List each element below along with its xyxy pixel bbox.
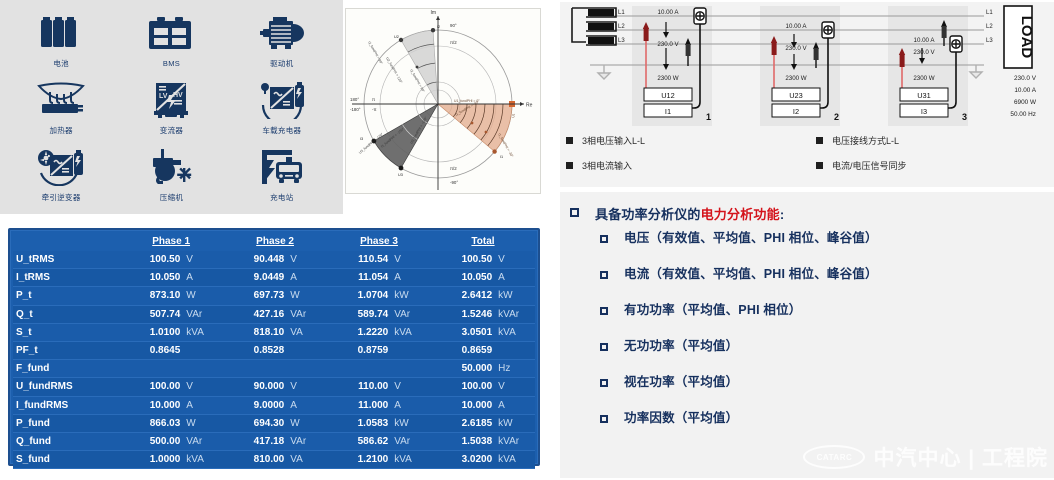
cell-phase1-unit <box>183 342 223 360</box>
cell-phase3-value: 589.74 <box>327 305 391 323</box>
cell-phase3-unit <box>391 360 431 378</box>
slide-canvas: 电池 <box>0 0 1054 480</box>
cell-phase1-value <box>119 360 183 378</box>
cell-phase3-value: 1.2100 <box>327 451 391 469</box>
cell-total-unit: kW <box>495 287 535 305</box>
svg-text:π/2: π/2 <box>450 40 457 45</box>
svg-text:90°: 90° <box>450 23 457 28</box>
right-column: L1 L2 L3 <box>548 0 1054 480</box>
cell-total-value: 10.050 <box>431 269 495 287</box>
cell-phase1-unit: W <box>183 287 223 305</box>
row-label: S_t <box>13 323 119 341</box>
hollow-square-bullet-icon <box>600 379 608 387</box>
cell-phase1-value: 866.03 <box>119 414 183 432</box>
square-bullet-icon <box>816 137 823 144</box>
cell-phase2-value: 818.10 <box>223 323 287 341</box>
cell-phase2-unit: VA <box>287 323 327 341</box>
icon-label: 变流器 <box>160 125 183 136</box>
cell-total-unit: A <box>495 269 535 287</box>
cell-phase2-value: 9.0000 <box>223 396 287 414</box>
table-row: I_tRMS10.050A9.0449A11.054A10.050A <box>13 269 535 287</box>
cell-phase2-unit: VA <box>287 451 327 469</box>
svg-text:π: π <box>372 97 375 102</box>
cell-phase1-value: 507.74 <box>119 305 183 323</box>
battery-cells-icon <box>39 11 83 55</box>
cell-phase3-value: 1.2220 <box>327 323 391 341</box>
svg-text:π/2: π/2 <box>450 166 457 171</box>
phasor-polar-chart: Im Re 90° π/2 π/2 -90° 180° -180° π -π U… <box>345 8 541 194</box>
cell-phase1-unit <box>183 360 223 378</box>
icon-cell-motor[interactable]: 驱动机 <box>227 6 337 73</box>
cell-phase3-value: 110.54 <box>327 251 391 269</box>
cell-phase2-value: 90.000 <box>223 378 287 396</box>
cell-phase1-value: 1.0100 <box>119 323 183 341</box>
load-value-power: 6900 W <box>1014 99 1037 106</box>
cell-phase3-unit <box>391 342 431 360</box>
icon-cell-compressor[interactable]: 压缩机 <box>116 141 226 208</box>
ch3-i-box: I3 <box>921 107 927 116</box>
cell-phase3-unit: VAr <box>391 433 431 451</box>
cell-phase3-unit: V <box>391 378 431 396</box>
left-column: 电池 <box>0 0 548 480</box>
cell-total-unit: V <box>495 251 535 269</box>
cell-phase1-unit: kVA <box>183 451 223 469</box>
cell-phase2-value: 810.00 <box>223 451 287 469</box>
cell-phase1-unit: A <box>183 269 223 287</box>
icon-label: BMS <box>163 59 180 68</box>
cell-phase2-unit: VAr <box>287 433 327 451</box>
svg-text:U3: U3 <box>398 173 403 177</box>
cell-phase1-value: 1.0000 <box>119 451 183 469</box>
svg-text:-180°: -180° <box>350 107 361 112</box>
cell-phase2-value: 697.73 <box>223 287 287 305</box>
ch1-voltage-label: 230.0 V <box>657 41 679 48</box>
ch2-u-box: U23 <box>789 91 803 100</box>
converter-lv-hv-icon: LV HV <box>150 78 192 122</box>
traction-inverter-icon <box>36 145 86 189</box>
ch2-power-label: 2300 W <box>785 75 806 82</box>
icon-label: 车载充电器 <box>262 125 301 136</box>
logo-text: CATARC <box>817 453 853 462</box>
cell-phase2-unit: V <box>287 251 327 269</box>
feature-item-label: 电压（有效值、平均值、PHI 相位、峰谷值） <box>624 231 878 246</box>
ch1-power-label: 2300 W <box>657 75 678 82</box>
cell-phase3-value: 1.0704 <box>327 287 391 305</box>
row-label: P_fund <box>13 414 119 432</box>
ch3-u-box: U31 <box>917 91 931 100</box>
cell-phase1-unit: V <box>183 251 223 269</box>
col-header-phase1: Phase 1 <box>119 233 223 251</box>
bullet-item: 3相电压输入L-L <box>566 128 816 153</box>
cell-phase3-value: 586.62 <box>327 433 391 451</box>
cell-phase2-value: 417.18 <box>223 433 287 451</box>
cell-phase3-unit: kW <box>391 414 431 432</box>
bullet-item: 电流/电压信号同步 <box>816 153 1054 178</box>
row-label: U_fundRMS <box>13 378 119 396</box>
row-label: PF_t <box>13 342 119 360</box>
cell-phase1-unit: VAr <box>183 433 223 451</box>
cell-phase2-value: 0.8528 <box>223 342 287 360</box>
cell-phase3-unit: kVA <box>391 323 431 341</box>
feature-item-label: 视在功率（平均值） <box>624 375 738 390</box>
cell-total-unit: A <box>495 396 535 414</box>
cell-phase2-value: 90.448 <box>223 251 287 269</box>
cell-total-value: 3.0200 <box>431 451 495 469</box>
catarc-logo-icon: CATARC <box>803 445 865 469</box>
feature-item-label: 电流（有效值、平均值、PHI 相位、峰谷值） <box>624 267 878 282</box>
cell-total-unit: kVA <box>495 323 535 341</box>
icon-label: 充电站 <box>270 192 293 203</box>
ch3-power-label: 2300 W <box>913 75 934 82</box>
load-box-label: LOAD <box>1018 16 1035 59</box>
bms-module-icon <box>148 12 194 56</box>
bullet-label: 电压接线方式L-L <box>832 134 899 147</box>
onboard-charger-icon <box>257 78 307 122</box>
table-row: I_fundRMS10.000A9.0000A11.000A10.000A <box>13 396 535 414</box>
ch2-i-box: I2 <box>793 107 799 116</box>
bullet-label: 电流/电压信号同步 <box>832 159 907 172</box>
cell-total-value: 2.6412 <box>431 287 495 305</box>
watermark: CATARC 中汽中心 | 工程院 <box>803 442 1048 472</box>
icon-cell-charging-station[interactable]: 充电站 <box>227 141 337 208</box>
square-bullet-icon <box>566 162 573 169</box>
bullet-label: 3相电流输入 <box>582 159 632 172</box>
cell-phase1-value: 873.10 <box>119 287 183 305</box>
table-header-row: Phase 1 Phase 2 Phase 3 Total <box>13 233 535 251</box>
icon-cell-heater[interactable]: 加热器 <box>6 73 116 140</box>
feature-item-label: 无功功率（平均值） <box>624 339 738 354</box>
ch1-current-label: 10.00 A <box>658 9 680 16</box>
heater-icon <box>37 78 85 122</box>
cell-phase2-unit <box>287 360 327 378</box>
panel-divider <box>0 214 548 228</box>
heading-accent: 电力分析功能 <box>701 207 780 222</box>
ch1-number: 1 <box>706 112 711 122</box>
cell-total-value: 1.5246 <box>431 305 495 323</box>
bullet-item: 3相电流输入 <box>566 153 816 178</box>
icon-cell-onboard-charger[interactable]: 车载充电器 <box>227 73 337 140</box>
cell-phase3-value <box>327 360 391 378</box>
hollow-square-bullet-icon <box>600 415 608 423</box>
table-row: U_fundRMS100.00V90.000V110.00V100.00V <box>13 378 535 396</box>
feature-item: 电压（有效值、平均值、PHI 相位、峰谷值） <box>560 231 1054 267</box>
heading-prefix: 具备功率分析仪的 <box>595 207 701 222</box>
cell-phase2-unit: V <box>287 378 327 396</box>
table-row: S_fund1.0000kVA810.00VA1.2100kVA3.0200kV… <box>13 451 535 469</box>
svg-text:Re: Re <box>526 103 533 109</box>
cell-phase2-value: 694.30 <box>223 414 287 432</box>
icon-cell-traction-inverter[interactable]: 牵引逆变器 <box>6 141 116 208</box>
ch1-u-box: U12 <box>661 91 675 100</box>
watermark-text: 中汽中心 | 工程院 <box>873 442 1048 472</box>
cell-total-value: 10.000 <box>431 396 495 414</box>
svg-text:HV: HV <box>173 92 183 99</box>
svg-text:180°: 180° <box>350 97 359 102</box>
electric-motor-icon <box>259 11 305 55</box>
table-row: S_t1.0100kVA818.10VA1.2220kVA3.0501kVA <box>13 323 535 341</box>
heading-suffix: : <box>780 207 785 222</box>
col-header-blank <box>13 233 119 251</box>
wiring-bullet-list: 3相电压输入L-L 3相电流输入 电压接线方式L-L 电流/电压信号同步 <box>566 128 1054 178</box>
hollow-square-bullet-icon <box>600 307 608 315</box>
load-value-frequency: 50.00 Hz <box>1010 111 1036 118</box>
cell-total-value: 100.50 <box>431 251 495 269</box>
table-row: PF_t0.86450.85280.87590.8659 <box>13 342 535 360</box>
cell-phase2-unit: A <box>287 396 327 414</box>
feature-item: 无功功率（平均值） <box>560 339 1054 375</box>
cell-phase2-value: 427.16 <box>223 305 287 323</box>
cell-total-value: 2.6185 <box>431 414 495 432</box>
feature-heading: 具备功率分析仪的电力分析功能: <box>560 192 1054 223</box>
square-bullet-icon <box>566 137 573 144</box>
feature-items: 电压（有效值、平均值、PHI 相位、峰谷值）电流（有效值、平均值、PHI 相位、… <box>560 231 1054 447</box>
cell-total-value: 50.000 <box>431 360 495 378</box>
icon-label: 电池 <box>53 58 69 69</box>
cell-total-unit <box>495 342 535 360</box>
cell-total-unit: V <box>495 378 535 396</box>
load-value-voltage: 230.0 V <box>1014 75 1037 82</box>
cell-phase3-value: 11.000 <box>327 396 391 414</box>
table-row: P_fund866.03W694.30W1.0583kW2.6185kW <box>13 414 535 432</box>
feature-item-label: 功率因数（平均值） <box>624 411 738 426</box>
source-line-label-l2: L2 <box>618 24 625 30</box>
cell-phase3-value: 110.00 <box>327 378 391 396</box>
cell-phase3-value: 0.8759 <box>327 342 391 360</box>
measurement-results-table: Phase 1 Phase 2 Phase 3 Total U_tRMS100.… <box>8 228 540 466</box>
load-line-label-l1: L1 <box>986 10 993 16</box>
charging-station-icon <box>259 145 305 189</box>
cell-phase2-unit: W <box>287 414 327 432</box>
row-label: Q_fund <box>13 433 119 451</box>
ch2-current-label: 10.00 A <box>786 23 808 30</box>
svg-text:Im: Im <box>430 10 436 16</box>
row-label: F_fund <box>13 360 119 378</box>
bullet-item: 电压接线方式L-L <box>816 128 1054 153</box>
table-body: U_tRMS100.50V90.448V110.54V100.50VI_tRMS… <box>13 251 535 469</box>
cell-total-value: 100.00 <box>431 378 495 396</box>
cell-phase2-unit: VAr <box>287 305 327 323</box>
cell-phase3-unit: A <box>391 396 431 414</box>
hollow-square-bullet-icon <box>600 235 608 243</box>
ch1-i-box: I1 <box>665 107 671 116</box>
svg-text:-π: -π <box>372 107 377 112</box>
ch2-number: 2 <box>834 112 839 122</box>
table-row: Q_fund500.00VAr417.18VAr586.62VAr1.5038k… <box>13 433 535 451</box>
icon-cell-bms[interactable]: BMS <box>116 6 226 73</box>
cell-phase1-value: 10.050 <box>119 269 183 287</box>
col-header-phase2: Phase 2 <box>223 233 327 251</box>
load-line-label-l2: L2 <box>986 24 993 30</box>
load-line-label-l3: L3 <box>986 38 993 44</box>
feature-item: 视在功率（平均值） <box>560 375 1054 411</box>
cell-phase1-unit: kVA <box>183 323 223 341</box>
row-label: I_fundRMS <box>13 396 119 414</box>
svg-text:I3: I3 <box>360 137 363 141</box>
load-value-current: 10.00 A <box>1014 87 1036 94</box>
icon-label: 压缩机 <box>160 192 183 203</box>
cell-phase2-value <box>223 360 287 378</box>
table-row: Q_t507.74VAr427.16VAr589.74VAr1.5246kVAr <box>13 305 535 323</box>
icon-cell-battery[interactable]: 电池 <box>6 6 116 73</box>
icon-cell-converter[interactable]: LV HV 变流器 <box>116 73 226 140</box>
svg-text:LV: LV <box>159 93 168 100</box>
source-line-label-l1: L1 <box>618 10 625 16</box>
hollow-square-bullet-icon <box>570 208 579 217</box>
ch3-voltage-label: 230.0 V <box>913 49 935 56</box>
cell-total-unit: Hz <box>495 360 535 378</box>
ch3-current-label: 10.00 A <box>914 37 936 44</box>
table-row: P_t873.10W697.73W1.0704kW2.6412kW <box>13 287 535 305</box>
table-row: F_fund50.000Hz <box>13 360 535 378</box>
icon-label: 加热器 <box>49 125 72 136</box>
cell-total-unit: kVA <box>495 451 535 469</box>
svg-text:I2: I2 <box>437 25 440 29</box>
feature-item: 有功功率（平均值、PHI 相位） <box>560 303 1054 339</box>
source-line-label-l3: L3 <box>618 38 625 44</box>
col-header-phase3: Phase 3 <box>327 233 431 251</box>
feature-item-label: 有功功率（平均值、PHI 相位） <box>624 303 802 318</box>
cell-phase3-value: 1.0583 <box>327 414 391 432</box>
cell-phase1-value: 500.00 <box>119 433 183 451</box>
row-label: S_fund <box>13 451 119 469</box>
cell-phase1-unit: W <box>183 414 223 432</box>
cell-phase2-value: 9.0449 <box>223 269 287 287</box>
cell-phase1-value: 0.8645 <box>119 342 183 360</box>
svg-text:U2: U2 <box>394 35 399 39</box>
polar-chart-svg: Im Re 90° π/2 π/2 -90° 180° -180° π -π U… <box>346 9 540 193</box>
ev-component-icon-panel: 电池 <box>0 0 343 214</box>
cell-phase3-unit: kVA <box>391 451 431 469</box>
meas-table: Phase 1 Phase 2 Phase 3 Total U_tRMS100.… <box>13 233 535 469</box>
cell-phase3-unit: kW <box>391 287 431 305</box>
cell-phase1-value: 100.50 <box>119 251 183 269</box>
square-bullet-icon <box>816 162 823 169</box>
cell-phase1-value: 100.00 <box>119 378 183 396</box>
row-label: I_tRMS <box>13 269 119 287</box>
cell-phase3-unit: VAr <box>391 305 431 323</box>
cell-phase1-unit: V <box>183 378 223 396</box>
svg-text:I1: I1 <box>500 155 503 159</box>
cell-total-value: 0.8659 <box>431 342 495 360</box>
cell-phase3-unit: A <box>391 269 431 287</box>
cell-phase2-unit: W <box>287 287 327 305</box>
icon-label: 牵引逆变器 <box>42 192 81 203</box>
cell-total-unit: kVAr <box>495 305 535 323</box>
cell-phase2-unit <box>287 342 327 360</box>
bullet-label: 3相电压输入L-L <box>582 134 645 147</box>
cell-total-value: 3.0501 <box>431 323 495 341</box>
hollow-square-bullet-icon <box>600 343 608 351</box>
ch3-number: 3 <box>962 112 967 122</box>
cell-phase3-unit: V <box>391 251 431 269</box>
compressor-icon <box>148 145 194 189</box>
cell-phase3-value: 11.054 <box>327 269 391 287</box>
hollow-square-bullet-icon <box>600 271 608 279</box>
cell-phase2-unit: A <box>287 269 327 287</box>
power-analysis-feature-panel: 具备功率分析仪的电力分析功能: 电压（有效值、平均值、PHI 相位、峰谷值）电流… <box>560 192 1054 478</box>
icon-grid: 电池 <box>6 6 337 208</box>
svg-text:-90°: -90° <box>450 180 458 185</box>
col-header-total: Total <box>431 233 535 251</box>
row-label: P_t <box>13 287 119 305</box>
icon-label: 驱动机 <box>270 58 293 69</box>
table-row: U_tRMS100.50V90.448V110.54V100.50V <box>13 251 535 269</box>
row-label: U_tRMS <box>13 251 119 269</box>
cell-phase1-unit: VAr <box>183 305 223 323</box>
cell-total-value: 1.5038 <box>431 433 495 451</box>
ch2-voltage-label: 230.0 V <box>785 45 807 52</box>
feature-item: 电流（有效值、平均值、PHI 相位、峰谷值） <box>560 267 1054 303</box>
cell-phase1-value: 10.000 <box>119 396 183 414</box>
cell-total-unit: kW <box>495 414 535 432</box>
feature-heading-text: 具备功率分析仪的电力分析功能: <box>595 204 784 223</box>
cell-phase1-unit: A <box>183 396 223 414</box>
cell-total-unit: kVAr <box>495 433 535 451</box>
row-label: Q_t <box>13 305 119 323</box>
